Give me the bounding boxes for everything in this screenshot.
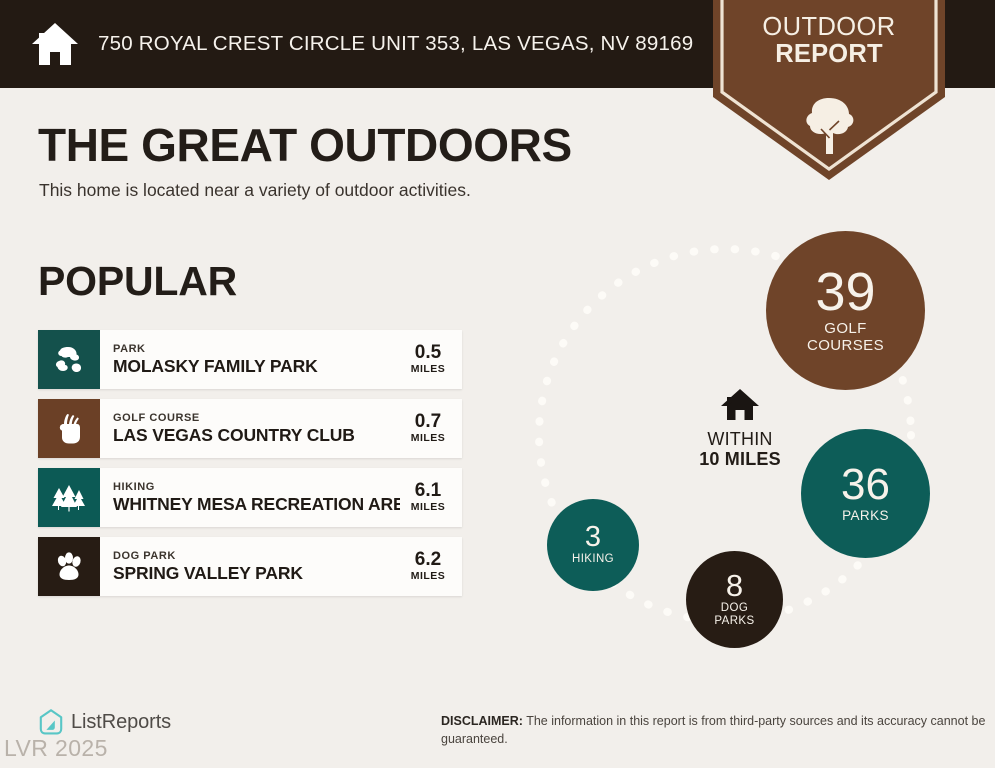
poi-category: HIKING bbox=[113, 481, 400, 494]
bubble-hiking-label: HIKING bbox=[572, 553, 614, 566]
badge-shield-shape bbox=[713, 0, 945, 182]
outdoor-report-page: 750 ROYAL CREST CIRCLE UNIT 353, LAS VEG… bbox=[0, 0, 995, 768]
poi-icon-box bbox=[38, 468, 100, 527]
poi-icon-box bbox=[38, 537, 100, 596]
disclaimer-text: The information in this report is from t… bbox=[441, 714, 985, 746]
golf-bag-icon bbox=[55, 413, 83, 445]
paw-print-icon bbox=[53, 551, 85, 583]
list-item[interactable]: PARK MOLASKY FAMILY PARK 0.5 MILES bbox=[38, 330, 462, 389]
bubble-dog-value: 8 bbox=[726, 571, 743, 600]
poi-distance: 0.5 MILES bbox=[400, 330, 462, 389]
poi-distance-value: 0.7 bbox=[415, 412, 441, 432]
home-icon bbox=[660, 388, 820, 422]
poi-distance: 6.1 MILES bbox=[400, 468, 462, 527]
popular-list: PARK MOLASKY FAMILY PARK 0.5 MILES bbox=[38, 330, 462, 606]
poi-icon-box bbox=[38, 330, 100, 389]
center-label-line-1: WITHIN bbox=[660, 429, 820, 449]
poi-category: GOLF COURSE bbox=[113, 412, 400, 425]
bubble-parks-label: PARKS bbox=[842, 508, 889, 523]
poi-text: GOLF COURSE LAS VEGAS COUNTRY CLUB bbox=[100, 399, 400, 458]
page-title: THE GREAT OUTDOORS bbox=[38, 118, 572, 172]
bubble-golf-value: 39 bbox=[815, 267, 875, 318]
poi-text: DOG PARK SPRING VALLEY PARK bbox=[100, 537, 400, 596]
bubble-dog-label-1: DOG bbox=[721, 602, 748, 615]
page-subtitle: This home is located near a variety of o… bbox=[39, 180, 471, 201]
poi-distance: 0.7 MILES bbox=[400, 399, 462, 458]
listreports-logo-text: ListReports bbox=[71, 711, 171, 734]
bubble-parks-value: 36 bbox=[841, 464, 890, 506]
poi-distance-unit: MILES bbox=[411, 570, 446, 583]
poi-icon-box bbox=[38, 399, 100, 458]
poi-name: SPRING VALLEY PARK bbox=[113, 563, 400, 583]
watermark: LVR 2025 bbox=[4, 735, 108, 762]
popular-heading: POPULAR bbox=[38, 258, 237, 305]
listreports-logo[interactable]: ListReports bbox=[38, 708, 171, 736]
disclaimer-label: DISCLAIMER: bbox=[441, 714, 523, 728]
park-trees-icon bbox=[52, 345, 86, 375]
bubble-dog-label-2: PARKS bbox=[714, 615, 754, 628]
list-item[interactable]: DOG PARK SPRING VALLEY PARK 6.2 MILES bbox=[38, 537, 462, 596]
home-icon bbox=[30, 21, 80, 67]
header-address-group: 750 ROYAL CREST CIRCLE UNIT 353, LAS VEG… bbox=[30, 0, 693, 88]
pine-trees-icon bbox=[50, 484, 88, 512]
poi-name: WHITNEY MESA RECREATION AREA bbox=[113, 494, 400, 514]
poi-distance-unit: MILES bbox=[411, 501, 446, 514]
outdoor-report-badge: OUTDOOR REPORT bbox=[713, 0, 945, 182]
list-item[interactable]: HIKING WHITNEY MESA RECREATION AREA 6.1 … bbox=[38, 468, 462, 527]
poi-text: HIKING WHITNEY MESA RECREATION AREA bbox=[100, 468, 400, 527]
poi-distance-unit: MILES bbox=[411, 432, 446, 445]
poi-distance: 6.2 MILES bbox=[400, 537, 462, 596]
poi-name: MOLASKY FAMILY PARK bbox=[113, 356, 400, 376]
poi-category: DOG PARK bbox=[113, 550, 400, 563]
within-10-miles-bubble-chart: 39 GOLF COURSES 36 PARKS 8 DOG PARKS 3 H… bbox=[520, 225, 995, 670]
bubble-parks: 36 PARKS bbox=[801, 429, 930, 558]
disclaimer: DISCLAIMER: The information in this repo… bbox=[441, 712, 986, 748]
property-address: 750 ROYAL CREST CIRCLE UNIT 353, LAS VEG… bbox=[98, 32, 693, 56]
poi-distance-value: 6.1 bbox=[415, 481, 441, 501]
bubble-golf-courses: 39 GOLF COURSES bbox=[766, 231, 925, 390]
poi-distance-value: 6.2 bbox=[415, 550, 441, 570]
listreports-logo-icon bbox=[38, 708, 64, 736]
poi-category: PARK bbox=[113, 343, 400, 356]
poi-distance-unit: MILES bbox=[411, 363, 446, 376]
poi-distance-value: 0.5 bbox=[415, 343, 441, 363]
bubble-center-label: WITHIN 10 MILES bbox=[660, 388, 820, 469]
poi-text: PARK MOLASKY FAMILY PARK bbox=[100, 330, 400, 389]
bubble-hiking-value: 3 bbox=[585, 524, 601, 552]
bubble-golf-label-1: GOLF bbox=[824, 321, 866, 338]
bubble-dog-parks: 8 DOG PARKS bbox=[686, 551, 783, 648]
poi-name: LAS VEGAS COUNTRY CLUB bbox=[113, 425, 400, 445]
bubble-golf-label-2: COURSES bbox=[807, 338, 884, 355]
list-item[interactable]: GOLF COURSE LAS VEGAS COUNTRY CLUB 0.7 M… bbox=[38, 399, 462, 458]
center-label-line-2: 10 MILES bbox=[660, 449, 820, 469]
bubble-hiking: 3 HIKING bbox=[547, 499, 639, 591]
